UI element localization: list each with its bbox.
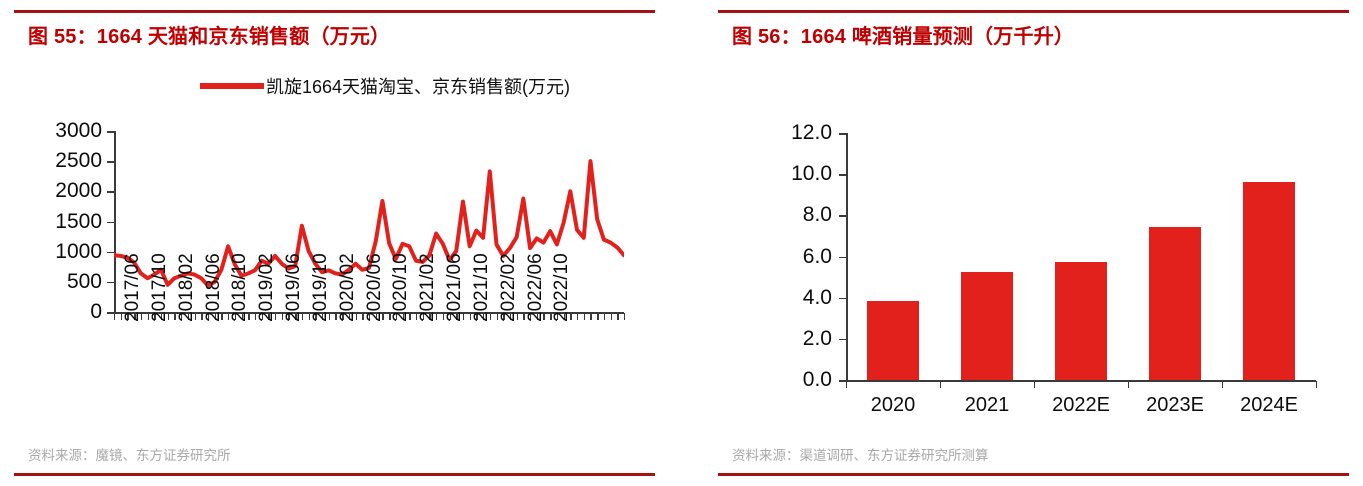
y-axis-tick [839, 174, 846, 176]
x-axis-tick-label: 2018/06 [203, 253, 225, 322]
y-axis-tick [839, 215, 846, 217]
y-axis-labels: 050010001500200025003000 [14, 131, 102, 312]
x-axis-line [846, 380, 1316, 382]
y-axis-tick [839, 298, 846, 300]
y-axis-tick-label: 0.0 [803, 368, 832, 392]
bar-plot-area [846, 133, 1316, 380]
x-axis-category-label: 2020 [871, 394, 916, 417]
x-axis-tick-label: 2019/06 [283, 253, 305, 322]
x-axis-tick-label: 2017/10 [149, 253, 171, 322]
figure-panel-55: 图 55：1664 天猫和京东销售额（万元） 凯旋1664天猫淘宝、京东销售额(… [14, 0, 655, 486]
panel-bottom-rule [14, 473, 655, 476]
bar-2021 [961, 272, 1013, 380]
panel-bottom-rule [718, 473, 1349, 476]
source-note-figure-56: 资料来源：渠道调研、东方证券研究所测算 [732, 444, 989, 464]
x-axis-tick [611, 313, 612, 320]
bar-2022E [1055, 262, 1107, 380]
x-axis-tick-label: 2020/10 [390, 253, 412, 322]
x-axis-tick-label: 2022/10 [551, 253, 573, 322]
x-axis-tick [1128, 381, 1129, 388]
x-axis-tick [584, 313, 585, 320]
y-axis-tick [107, 191, 114, 193]
y-axis-tick-label: 2500 [55, 149, 102, 173]
x-axis-tick-label: 2019/10 [310, 253, 332, 322]
x-axis-category-label: 2021 [965, 394, 1010, 417]
line-chart-sales: 050010001500200025003000 2017/062017/102… [14, 0, 655, 420]
y-axis-tick [839, 133, 846, 135]
figure-board: 图 55：1664 天猫和京东销售额（万元） 凯旋1664天猫淘宝、京东销售额(… [0, 0, 1363, 486]
x-axis-tick [624, 313, 625, 320]
figure-panel-56: 图 56：1664 啤酒销量预测（万千升） 1664销量（万千升） 0.02.0… [718, 0, 1349, 486]
y-axis-tick [107, 222, 114, 224]
x-axis-tick-label: 2020/02 [337, 253, 359, 322]
y-axis-tick-label: 8.0 [803, 203, 832, 227]
x-axis-tick-label: 2021/10 [471, 253, 493, 322]
x-axis-tick-label: 2017/06 [122, 253, 144, 322]
y-axis-labels: 0.02.04.06.08.010.012.0 [718, 133, 832, 380]
x-axis-tick-label: 2021/02 [417, 253, 439, 322]
y-axis-tick [107, 282, 114, 284]
y-axis-tick [107, 252, 114, 254]
x-axis-tick [846, 381, 847, 388]
y-axis-tick-label: 6.0 [803, 245, 832, 269]
y-axis-tick-label: 1000 [55, 240, 102, 264]
x-axis-tick-label: 2022/06 [525, 253, 547, 322]
x-axis-category-label: 2023E [1146, 394, 1204, 417]
x-axis-tick [940, 381, 941, 388]
y-axis-tick-label: 500 [67, 270, 102, 294]
y-axis-tick-label: 2000 [55, 179, 102, 203]
x-axis-category-label: 2024E [1240, 394, 1298, 417]
y-axis-tick [839, 339, 846, 341]
x-axis-tick-label: 2021/06 [444, 253, 466, 322]
y-axis-tick-label: 3000 [55, 119, 102, 143]
x-axis-tick [1034, 381, 1035, 388]
x-axis-tick-label: 2020/06 [364, 253, 386, 322]
bar-2020 [867, 301, 919, 380]
y-axis-tick [839, 257, 846, 259]
x-axis-tick [617, 313, 618, 320]
y-axis-tick [839, 380, 846, 382]
bar-2023E [1149, 227, 1201, 380]
x-axis-tick [604, 313, 605, 320]
x-axis-category-label: 2022E [1052, 394, 1110, 417]
x-axis-tick-label: 2019/02 [256, 253, 278, 322]
x-axis-tick-label: 2022/02 [498, 253, 520, 322]
x-axis-tick-label: 2018/10 [229, 253, 251, 322]
x-axis-tick [114, 313, 115, 320]
y-axis-tick-label: 2.0 [803, 327, 832, 351]
bar-2024E [1243, 182, 1295, 380]
y-axis-tick-label: 0 [90, 300, 102, 324]
x-axis-tick [1316, 381, 1317, 388]
source-note-figure-55: 资料来源：魔镜、东方证券研究所 [28, 444, 231, 464]
x-axis-tick [1222, 381, 1223, 388]
y-axis-tick [107, 161, 114, 163]
y-axis-line [846, 133, 848, 380]
x-axis-tick [597, 313, 598, 320]
y-axis-tick-label: 12.0 [791, 121, 832, 145]
x-axis-tick [590, 313, 591, 320]
y-axis-tick [107, 312, 114, 314]
x-axis-tick [577, 313, 578, 320]
y-axis-tick-label: 1500 [55, 210, 102, 234]
y-axis-tick [107, 131, 114, 133]
y-axis-tick-label: 10.0 [791, 162, 832, 186]
x-axis-tick-label: 2018/02 [176, 253, 198, 322]
y-axis-tick-label: 4.0 [803, 286, 832, 310]
bar-chart-volume-forecast: 0.02.04.06.08.010.012.0 202020212022E202… [718, 0, 1349, 430]
